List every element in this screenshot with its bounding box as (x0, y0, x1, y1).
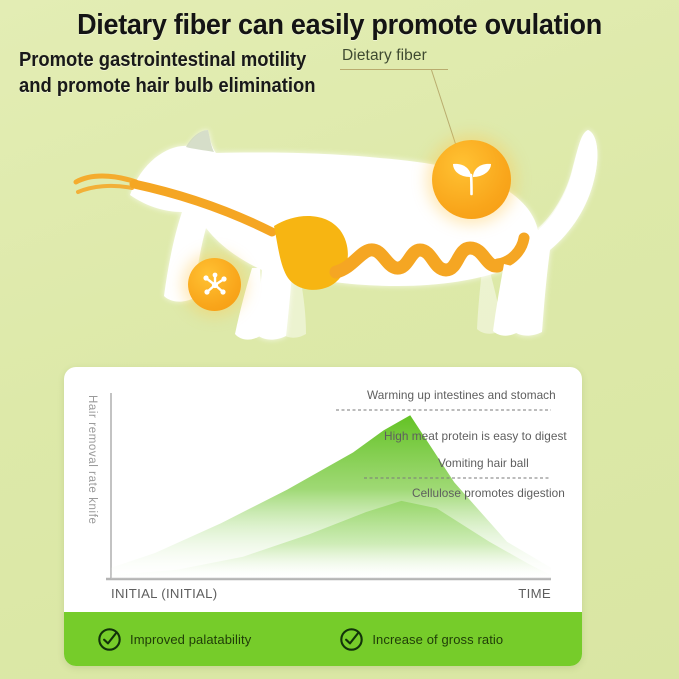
check-circle-icon (97, 627, 122, 652)
annotation-label-1: High meat protein is easy to digest (384, 429, 567, 443)
molecule-icon (201, 271, 229, 299)
headline-block: Dietary fiber can easily promote ovulati… (0, 0, 679, 42)
annotation-label-3: Cellulose promotes digestion (412, 486, 565, 500)
page-title: Dietary fiber can easily promote ovulati… (24, 0, 655, 42)
check-circle-icon (339, 627, 364, 652)
callout-label: Dietary fiber (340, 47, 448, 65)
benefit-label-1: Increase of gross ratio (372, 632, 503, 647)
sprout-icon-badge[interactable] (432, 140, 511, 219)
benefit-item-1: Increase of gross ratio (339, 627, 503, 652)
molecule-icon-badge[interactable] (188, 258, 241, 311)
chart-plot-area: Hair removal rate knife Warming up intes… (64, 367, 582, 612)
subtitle-block: Promote gastrointestinal motility and pr… (19, 48, 323, 99)
benefits-bar: Improved palatability Increase of gross … (64, 612, 582, 666)
x-axis-labels: INITIAL (INITIAL) TIME (111, 586, 551, 601)
infographic-poster: Dietary fiber can easily promote ovulati… (0, 0, 679, 679)
cat-tail (538, 130, 597, 252)
y-axis-label: Hair removal rate knife (82, 395, 98, 585)
benefit-label-0: Improved palatability (130, 632, 251, 647)
chart-card: Hair removal rate knife Warming up intes… (64, 367, 582, 666)
callout-dietary-fiber: Dietary fiber (340, 47, 448, 70)
x-tick-label-time: TIME (518, 586, 551, 601)
cat-illustration (60, 100, 620, 365)
subtitle-line-1: Promote gastrointestinal motility (19, 48, 323, 74)
sprout-icon (450, 160, 494, 200)
x-tick-label-initial: INITIAL (INITIAL) (111, 586, 217, 601)
benefit-item-0: Improved palatability (97, 627, 251, 652)
annotation-label-0: Warming up intestines and stomach (367, 388, 556, 402)
subtitle-line-2: and promote hair bulb elimination (19, 74, 323, 100)
annotation-label-2: Vomiting hair ball (438, 456, 529, 470)
